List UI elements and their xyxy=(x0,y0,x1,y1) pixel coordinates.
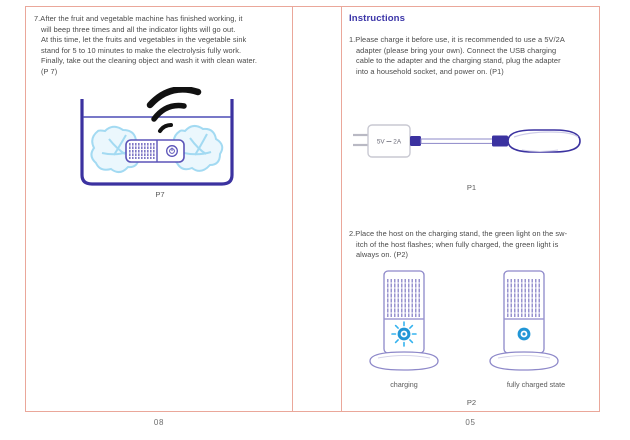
figure-p2-charging xyxy=(356,269,452,379)
right-page: Instructions 1.Please charge it before u… xyxy=(341,6,600,412)
figure-label-p2: P2 xyxy=(342,398,601,407)
instruction-line: adapter (please bring your own). Connect… xyxy=(349,46,595,57)
device-body xyxy=(126,140,184,162)
stand-base xyxy=(370,352,438,370)
left-step-line: will beep three times and all the indica… xyxy=(34,25,286,36)
manual-spread: 7.After the fruit and vegetable machine … xyxy=(25,6,600,412)
host-on-stand-full xyxy=(476,269,572,379)
figure-p2-fully-charged xyxy=(476,269,572,379)
left-step-line: Finally, take out the cleaning object an… xyxy=(34,56,286,67)
instruction-line: 1.Please charge it before use, it is rec… xyxy=(349,35,595,46)
indicator-light-flashing xyxy=(392,322,416,346)
adapter-rating-label: 5V ⎓ 2A xyxy=(377,139,402,146)
usb-cable xyxy=(421,139,493,143)
charging-stand xyxy=(508,130,580,152)
figure-p7 xyxy=(64,87,254,192)
plug-prongs xyxy=(353,135,369,145)
instruction-item-1-text: 1.Please charge it before use, it is rec… xyxy=(349,35,595,77)
instruction-line: always on. (P2) xyxy=(349,250,595,261)
host-on-stand-charging xyxy=(356,269,452,379)
instruction-line: 2.Place the host on the charging stand, … xyxy=(349,229,595,240)
instructions-heading: Instructions xyxy=(349,13,405,24)
basin-illustration xyxy=(64,87,254,192)
left-step-line: stand for 5 to 10 minutes to make the el… xyxy=(34,46,286,57)
usb-connector-a xyxy=(410,136,421,146)
figure-label-p1: P1 xyxy=(342,183,601,192)
usb-connector-b xyxy=(492,136,508,147)
figure-p1: 5V ⎓ 2A xyxy=(350,117,590,179)
instruction-line: itch of the host flashes; when fully cha… xyxy=(349,240,595,251)
page-number-right: 05 xyxy=(341,418,600,427)
figure-label-p7: P7 xyxy=(26,190,294,199)
instruction-line: cable to the adapter and the charging st… xyxy=(349,56,595,67)
indicator-light-solid xyxy=(518,328,531,341)
page-number-left: 08 xyxy=(25,418,293,427)
stand-base xyxy=(490,352,558,370)
left-step-text: 7.After the fruit and vegetable machine … xyxy=(34,14,286,78)
left-step-line: (P 7) xyxy=(34,67,286,78)
instruction-item-2-text: 2.Place the host on the charging stand, … xyxy=(349,229,595,261)
signal-waves-icon xyxy=(150,89,198,131)
left-step-line: 7.After the fruit and vegetable machine … xyxy=(34,14,286,25)
instruction-line: into a household socket, and power on. (… xyxy=(349,67,595,78)
caption-fully-charged: fully charged state xyxy=(476,380,596,389)
adapter-cable-illustration: 5V ⎓ 2A xyxy=(350,117,590,179)
left-step-line: At this time, let the fruits and vegetab… xyxy=(34,35,286,46)
page-gutter xyxy=(293,6,341,412)
left-page: 7.After the fruit and vegetable machine … xyxy=(25,6,293,412)
caption-charging: charging xyxy=(342,380,466,389)
